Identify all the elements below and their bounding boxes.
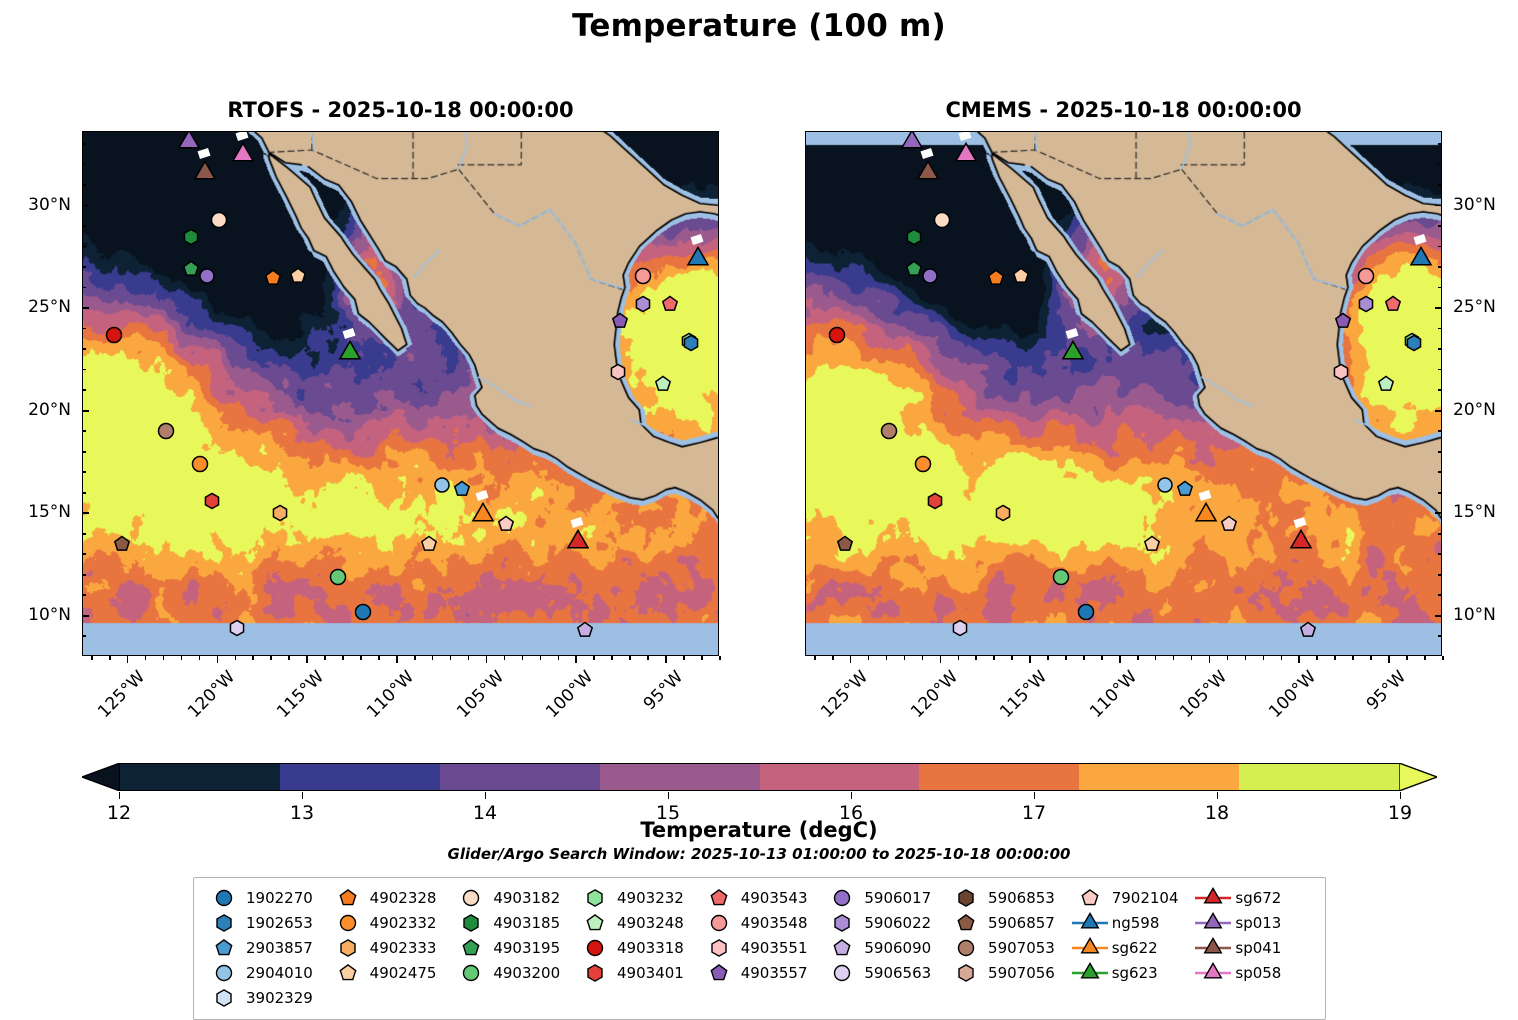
- glider-marker: [1061, 341, 1086, 366]
- argo-float-marker: [925, 491, 945, 511]
- legend-item[interactable]: sp013: [1193, 910, 1317, 935]
- float-marker-icon: [204, 962, 244, 984]
- legend-item[interactable]: 4903401: [575, 960, 699, 985]
- x-tick-minor: [904, 656, 906, 660]
- x-tick-minor: [91, 656, 93, 660]
- legend-label: sp058: [1233, 964, 1281, 982]
- x-tick-minor: [199, 656, 201, 660]
- glider-track-icon: [1193, 937, 1233, 959]
- argo-float-marker: [432, 475, 452, 495]
- glider-marker: [338, 341, 363, 366]
- y-tick-label: 15°N: [1453, 502, 1496, 522]
- argo-float-marker: [632, 265, 653, 286]
- glider-track-icon: [1193, 887, 1233, 909]
- search-window-caption: Glider/Argo Search Window: 2025-10-13 01…: [0, 845, 1518, 863]
- argo-float-marker: [681, 333, 701, 353]
- legend-item[interactable]: 4902475: [328, 960, 452, 985]
- colorbar-tick: [668, 792, 669, 799]
- legend-item[interactable]: 4903195: [451, 935, 575, 960]
- x-tick-label: 115°W: [996, 667, 1051, 722]
- y-tick-minor: [1438, 492, 1442, 494]
- y-tick-minor: [1438, 246, 1442, 248]
- x-tick-minor: [378, 656, 380, 660]
- legend-label: 5906853: [986, 889, 1055, 907]
- colorbar-tick: [851, 792, 852, 799]
- argo-float-marker: [1331, 362, 1351, 382]
- legend-label: 4903248: [615, 914, 684, 932]
- argo-float-marker: [986, 268, 1006, 288]
- argo-float-marker: [1219, 514, 1239, 534]
- colorbar-segment: [1079, 764, 1239, 790]
- argo-float-marker: [608, 362, 628, 382]
- legend-label: 3902329: [244, 989, 313, 1007]
- glider-marker: [916, 161, 941, 186]
- y-tick-minor: [1438, 184, 1442, 186]
- legend-item[interactable]: 4902333: [328, 935, 452, 960]
- float-marker-icon: [451, 912, 491, 934]
- colorbar-segment: [600, 764, 760, 790]
- argo-float-marker: [1333, 311, 1353, 331]
- glider-marker: [1409, 247, 1434, 272]
- legend-column: 5906853590685759070535907056: [946, 885, 1070, 985]
- x-tick-minor: [468, 656, 470, 660]
- legend-item[interactable]: sg672: [1193, 885, 1317, 910]
- x-tick-minor: [1227, 656, 1229, 660]
- argo-float-marker: [1011, 266, 1031, 286]
- legend-item[interactable]: 5906090: [822, 935, 946, 960]
- argo-float-marker: [878, 421, 899, 442]
- legend-item[interactable]: 2904010: [204, 960, 328, 985]
- argo-float-marker: [1404, 333, 1424, 353]
- legend-column: sg672 sp013 sp041 sp058: [1193, 885, 1317, 985]
- x-tick: [575, 656, 577, 663]
- x-tick-minor: [235, 656, 237, 660]
- legend-column: 4903543490354849035514903557: [699, 885, 823, 985]
- x-tick: [1388, 656, 1390, 663]
- colorbar-tick: [485, 792, 486, 799]
- y-tick: [82, 512, 89, 514]
- y-tick-minor: [1438, 348, 1442, 350]
- glider-marker: [953, 142, 978, 167]
- y-tick-label: 10°N: [28, 605, 71, 625]
- argo-float-marker: [575, 620, 595, 640]
- argo-float-marker: [1383, 294, 1403, 314]
- colorbar-segment: [120, 764, 280, 790]
- figure: Temperature (100 m) RTOFS - 2025-10-18 0…: [0, 0, 1518, 1014]
- y-tick-minor: [1438, 574, 1442, 576]
- colorbar-extend-min: [82, 763, 120, 791]
- y-tick-minor: [1438, 328, 1442, 330]
- x-tick-minor: [1065, 656, 1067, 660]
- legend-item[interactable]: 4903551: [699, 935, 823, 960]
- x-tick-label: 100°W: [543, 667, 598, 722]
- glider-marker: [686, 247, 711, 272]
- legend-item[interactable]: 4903232: [575, 885, 699, 910]
- legend-label: ng598: [1110, 914, 1160, 932]
- y-tick-label: 15°N: [28, 502, 71, 522]
- float-marker-icon: [451, 937, 491, 959]
- legend-item[interactable]: 1902270: [204, 885, 328, 910]
- argo-float-marker: [1050, 567, 1071, 588]
- float-marker-icon: [575, 887, 615, 909]
- colorbar: 1213141516171819: [82, 763, 1437, 791]
- x-tick-minor: [181, 656, 183, 660]
- x-tick-minor: [288, 656, 290, 660]
- float-marker-icon: [822, 962, 862, 984]
- argo-float-marker: [227, 618, 247, 638]
- x-tick-label: 100°W: [1266, 667, 1321, 722]
- x-tick: [127, 656, 129, 663]
- y-tick-minor: [1438, 143, 1442, 145]
- argo-float-marker: [904, 227, 924, 247]
- y-tick: [82, 410, 89, 412]
- y-tick-minor: [1438, 451, 1442, 453]
- legend-label: sp013: [1233, 914, 1281, 932]
- panel-title-rtofs: RTOFS - 2025-10-18 00:00:00: [82, 98, 719, 122]
- float-marker-icon: [451, 887, 491, 909]
- x-tick-label: 125°W: [817, 667, 872, 722]
- x-tick-minor: [163, 656, 165, 660]
- y-tick-minor: [1438, 594, 1442, 596]
- x-tick-label: 95°W: [640, 667, 687, 714]
- x-tick-minor: [886, 656, 888, 660]
- x-tick: [486, 656, 488, 663]
- float-marker-icon: [328, 887, 368, 909]
- legend-label: sg623: [1110, 964, 1158, 982]
- argo-float-marker: [920, 266, 940, 286]
- glider-track-icon: [1193, 962, 1233, 984]
- y-tick-label: 30°N: [1453, 195, 1496, 215]
- legend-item[interactable]: 5906563: [822, 960, 946, 985]
- legend-item[interactable]: 3902329: [204, 985, 328, 1010]
- legend-label: 1902653: [244, 914, 313, 932]
- y-tick: [1435, 512, 1442, 514]
- argo-float-marker: [452, 479, 472, 499]
- x-tick-minor: [611, 656, 613, 660]
- legend-label: 5906017: [862, 889, 931, 907]
- x-tick-minor: [1137, 656, 1139, 660]
- float-marker-icon: [946, 962, 986, 984]
- y-tick-minor: [82, 574, 86, 576]
- y-tick-minor: [1438, 553, 1442, 555]
- legend-item[interactable]: 7902104: [1070, 885, 1194, 910]
- float-marker-icon: [946, 937, 986, 959]
- x-tick-minor: [1442, 656, 1444, 660]
- float-marker-icon: [946, 912, 986, 934]
- legend-item[interactable]: 4903318: [575, 935, 699, 960]
- x-tick-minor: [993, 656, 995, 660]
- legend: 1902270190265329038572904010390232949023…: [193, 877, 1326, 1020]
- colorbar-tick: [1400, 792, 1401, 799]
- map-panel-cmems: CMEMS - 2025-10-18 00:00:00 125°W120°W11…: [805, 131, 1442, 656]
- x-tick-minor: [1334, 656, 1336, 660]
- glider-track-icon: [1070, 962, 1110, 984]
- x-tick-minor: [450, 656, 452, 660]
- legend-label: sp041: [1233, 939, 1281, 957]
- float-marker-icon: [699, 962, 739, 984]
- x-tick-minor: [1245, 656, 1247, 660]
- legend-item[interactable]: ng598: [1070, 910, 1194, 935]
- float-marker-icon: [1070, 887, 1110, 909]
- argo-float-marker: [1075, 601, 1096, 622]
- legend-item[interactable]: sp058: [1193, 960, 1317, 985]
- legend-label: 4902328: [368, 889, 437, 907]
- argo-float-marker: [189, 454, 210, 475]
- legend-label: 2904010: [244, 964, 313, 982]
- y-tick-minor: [1438, 635, 1442, 637]
- y-tick-minor: [1438, 430, 1442, 432]
- y-tick-minor: [1438, 266, 1442, 268]
- x-tick-minor: [958, 656, 960, 660]
- legend-item[interactable]: 4903543: [699, 885, 823, 910]
- y-tick-minor: [82, 635, 86, 637]
- y-tick-minor: [82, 533, 86, 535]
- glider-marker: [1194, 503, 1219, 528]
- legend-column: 7902104 ng598 sg622 sg623: [1070, 885, 1194, 985]
- argo-float-marker: [1175, 479, 1195, 499]
- legend-item[interactable]: 2903857: [204, 935, 328, 960]
- colorbar-segments: [119, 763, 1400, 791]
- legend-item[interactable]: 5906853: [946, 885, 1070, 910]
- map-frame-cmems[interactable]: [805, 131, 1442, 656]
- argo-float-marker: [288, 266, 308, 286]
- y-tick-minor: [82, 266, 86, 268]
- y-tick-minor: [82, 287, 86, 289]
- x-tick-minor: [1173, 656, 1175, 660]
- argo-float-marker: [202, 491, 222, 511]
- y-tick-minor: [82, 184, 86, 186]
- legend-label: 5907053: [986, 939, 1055, 957]
- argo-float-marker: [327, 567, 348, 588]
- y-tick-minor: [82, 492, 86, 494]
- float-marker-icon: [699, 912, 739, 934]
- x-tick-minor: [868, 656, 870, 660]
- float-marker-icon: [451, 962, 491, 984]
- float-marker-icon: [699, 937, 739, 959]
- float-marker-icon: [822, 887, 862, 909]
- argo-float-marker: [1376, 374, 1396, 394]
- x-tick-minor: [414, 656, 416, 660]
- colorbar-tick: [1217, 792, 1218, 799]
- x-tick-label: 105°W: [453, 667, 508, 722]
- legend-item[interactable]: 5906857: [946, 910, 1070, 935]
- glider-marker: [193, 161, 218, 186]
- glider-marker: [471, 503, 496, 528]
- y-tick: [1435, 410, 1442, 412]
- colorbar-tick: [1034, 792, 1035, 799]
- glider-marker: [230, 142, 255, 167]
- y-tick-minor: [1438, 225, 1442, 227]
- argo-float-marker: [1356, 294, 1376, 314]
- legend-label: 4903543: [739, 889, 808, 907]
- legend-item[interactable]: 4903200: [451, 960, 575, 985]
- glider-marker: [566, 530, 591, 555]
- float-marker-icon: [575, 962, 615, 984]
- legend-item[interactable]: 5906022: [822, 910, 946, 935]
- legend-label: 4902333: [368, 939, 437, 957]
- float-marker-icon: [575, 912, 615, 934]
- colorbar-extend-max: [1399, 763, 1437, 791]
- temperature-field-cmems: [806, 132, 1441, 655]
- argo-float-marker: [1298, 620, 1318, 640]
- x-tick-label: 105°W: [1176, 667, 1231, 722]
- legend-column: 4903232490324849033184903401: [575, 885, 699, 985]
- x-tick: [1119, 656, 1121, 663]
- y-tick-minor: [82, 328, 86, 330]
- glider-track-icon: [1070, 937, 1110, 959]
- legend-item[interactable]: 4903557: [699, 960, 823, 985]
- float-marker-icon: [946, 887, 986, 909]
- map-panel-rtofs: RTOFS - 2025-10-18 00:00:00 125°W120°W11…: [82, 131, 719, 656]
- argo-float-marker: [912, 454, 933, 475]
- argo-float-marker: [660, 294, 680, 314]
- x-tick-label: 95°W: [1363, 667, 1410, 714]
- legend-column: 4903182490318549031954903200: [451, 885, 575, 985]
- y-tick-minor: [82, 369, 86, 371]
- x-tick-minor: [1263, 656, 1265, 660]
- x-tick-minor: [145, 656, 147, 660]
- x-tick: [665, 656, 667, 663]
- legend-label: 4902475: [368, 964, 437, 982]
- x-tick-minor: [629, 656, 631, 660]
- legend-label: 4903185: [491, 914, 560, 932]
- argo-float-marker: [155, 421, 176, 442]
- colorbar-tick: [302, 792, 303, 799]
- argo-float-marker: [270, 503, 290, 523]
- x-tick: [1029, 656, 1031, 663]
- legend-label: sg672: [1233, 889, 1281, 907]
- colorbar-segment: [280, 764, 440, 790]
- legend-label: 5907056: [986, 964, 1055, 982]
- y-tick-minor: [1438, 164, 1442, 166]
- x-tick-minor: [814, 656, 816, 660]
- x-tick-minor: [683, 656, 685, 660]
- y-tick: [1435, 307, 1442, 309]
- legend-label: 4903401: [615, 964, 684, 982]
- legend-item[interactable]: sp041: [1193, 935, 1317, 960]
- legend-label: 4903232: [615, 889, 684, 907]
- legend-item[interactable]: 5906017: [822, 885, 946, 910]
- legend-label: 2903857: [244, 939, 313, 957]
- y-tick-minor: [82, 553, 86, 555]
- x-tick: [1209, 656, 1211, 663]
- x-tick-label: 125°W: [94, 667, 149, 722]
- y-tick-minor: [82, 143, 86, 145]
- y-tick-minor: [1438, 287, 1442, 289]
- y-tick-label: 20°N: [28, 400, 71, 420]
- x-tick-minor: [1370, 656, 1372, 660]
- y-tick-minor: [1438, 471, 1442, 473]
- legend-label: 4903557: [739, 964, 808, 982]
- argo-float-marker: [181, 227, 201, 247]
- legend-item[interactable]: 5907053: [946, 935, 1070, 960]
- y-tick-label: 30°N: [28, 195, 71, 215]
- argo-float-marker: [263, 268, 283, 288]
- legend-label: 5906857: [986, 914, 1055, 932]
- y-tick: [82, 307, 89, 309]
- x-tick: [940, 656, 942, 663]
- legend-label: 4903182: [491, 889, 560, 907]
- x-tick-minor: [558, 656, 560, 660]
- legend-label: 5906563: [862, 964, 931, 982]
- argo-float-marker: [352, 601, 373, 622]
- argo-float-marker: [103, 325, 124, 346]
- argo-float-marker: [932, 210, 953, 231]
- legend-label: 7902104: [1110, 889, 1179, 907]
- y-tick-minor: [82, 389, 86, 391]
- argo-float-marker: [1142, 534, 1162, 554]
- x-tick-minor: [719, 656, 721, 660]
- colorbar-segment: [760, 764, 920, 790]
- x-tick-minor: [270, 656, 272, 660]
- legend-item[interactable]: 5907056: [946, 960, 1070, 985]
- glider-track-icon: [1070, 912, 1110, 934]
- argo-float-marker: [197, 266, 217, 286]
- legend-label: 4903200: [491, 964, 560, 982]
- glider-marker: [1289, 530, 1314, 555]
- legend-item[interactable]: 4903185: [451, 910, 575, 935]
- y-tick-minor: [1438, 533, 1442, 535]
- y-tick-minor: [82, 430, 86, 432]
- x-tick-minor: [1011, 656, 1013, 660]
- y-tick-minor: [82, 246, 86, 248]
- y-tick: [1435, 615, 1442, 617]
- legend-label: sg622: [1110, 939, 1158, 957]
- float-marker-icon: [204, 887, 244, 909]
- y-tick-label: 25°N: [1453, 297, 1496, 317]
- legend-item[interactable]: 4903548: [699, 910, 823, 935]
- argo-float-marker: [633, 294, 653, 314]
- legend-item[interactable]: sg623: [1070, 960, 1194, 985]
- legend-item[interactable]: 1902653: [204, 910, 328, 935]
- legend-item[interactable]: 4902328: [328, 885, 452, 910]
- x-tick-minor: [1424, 656, 1426, 660]
- legend-item[interactable]: sg622: [1070, 935, 1194, 960]
- float-marker-icon: [328, 937, 368, 959]
- argo-float-marker: [1155, 475, 1175, 495]
- argo-float-marker: [610, 311, 630, 331]
- map-frame-rtofs[interactable]: [82, 131, 719, 656]
- float-marker-icon: [204, 937, 244, 959]
- x-tick-minor: [109, 656, 111, 660]
- legend-column: 5906017590602259060905906563: [822, 885, 946, 985]
- x-tick-label: 120°W: [907, 667, 962, 722]
- argo-float-marker: [419, 534, 439, 554]
- page-title: Temperature (100 m): [0, 8, 1518, 44]
- y-tick-label: 25°N: [28, 297, 71, 317]
- legend-label: 4903318: [615, 939, 684, 957]
- x-tick-minor: [647, 656, 649, 660]
- float-marker-icon: [822, 937, 862, 959]
- y-tick-minor: [82, 348, 86, 350]
- x-tick-minor: [1083, 656, 1085, 660]
- float-marker-icon: [822, 912, 862, 934]
- legend-item[interactable]: 4903248: [575, 910, 699, 935]
- x-tick-minor: [504, 656, 506, 660]
- argo-float-marker: [993, 503, 1013, 523]
- float-marker-icon: [575, 937, 615, 959]
- legend-item[interactable]: 4903182: [451, 885, 575, 910]
- float-marker-icon: [328, 962, 368, 984]
- colorbar-segment: [440, 764, 600, 790]
- legend-label: 5906090: [862, 939, 931, 957]
- legend-label: 4903195: [491, 939, 560, 957]
- x-tick-minor: [922, 656, 924, 660]
- argo-float-marker: [1355, 265, 1376, 286]
- x-tick: [306, 656, 308, 663]
- float-marker-icon: [204, 987, 244, 1009]
- legend-item[interactable]: 4902332: [328, 910, 452, 935]
